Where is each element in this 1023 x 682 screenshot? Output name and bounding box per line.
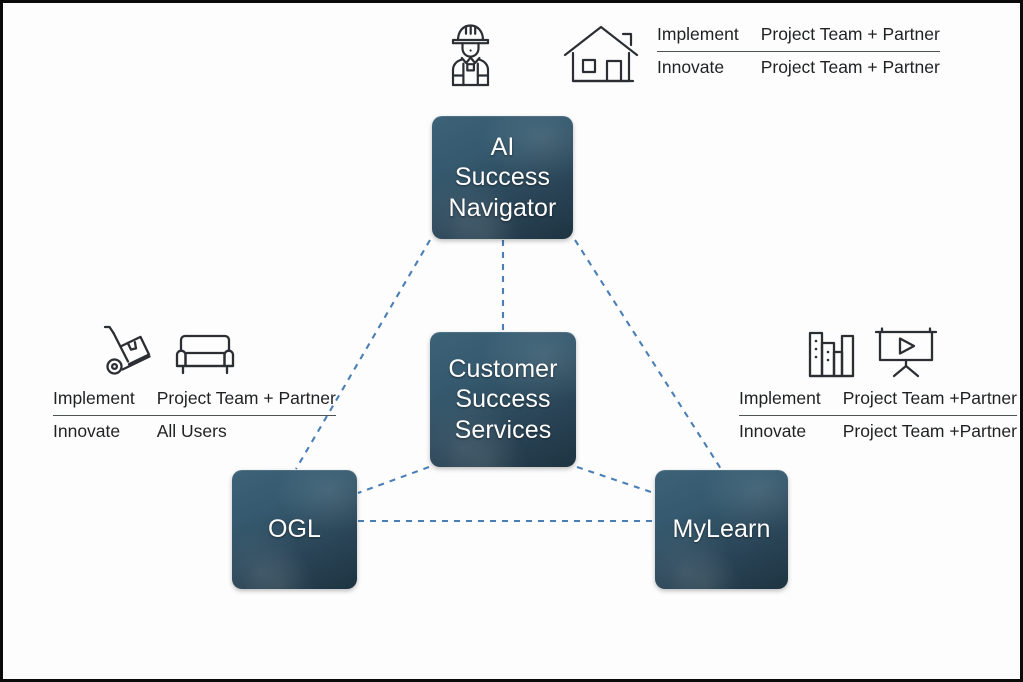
- row-key: Implement: [739, 383, 843, 416]
- bar-chart-buildings-icon: [807, 327, 859, 379]
- info-right-table: Implement Project Team +Partner Innovate…: [739, 383, 1017, 448]
- node-ai-success-navigator[interactable]: AI Success Navigator: [432, 116, 573, 239]
- info-top-icons: [441, 19, 643, 91]
- table-row: Innovate Project Team +Partner: [739, 416, 1017, 449]
- construction-worker-icon: [441, 19, 549, 91]
- table-row: Implement Project Team + Partner: [657, 19, 940, 52]
- row-value: Project Team +Partner: [843, 383, 1017, 416]
- node-ogl[interactable]: OGL: [232, 470, 357, 589]
- node-label: Customer Success Services: [440, 354, 565, 446]
- sofa-icon: [173, 331, 237, 379]
- presentation-play-icon: [873, 323, 939, 379]
- house-icon: [563, 25, 643, 85]
- node-mylearn[interactable]: MyLearn: [655, 470, 788, 589]
- row-key: Innovate: [739, 416, 843, 449]
- diagram-stage: AI Success Navigator Customer Success Se…: [3, 3, 1020, 679]
- node-label: MyLearn: [665, 514, 779, 545]
- row-value: Project Team + Partner: [761, 52, 940, 85]
- row-value: Project Team +Partner: [843, 416, 1017, 449]
- info-left-icons: [53, 321, 336, 379]
- row-value: Project Team + Partner: [761, 19, 940, 52]
- connector-center-ogl: [358, 467, 429, 493]
- info-left-table: Implement Project Team + Partner Innovat…: [53, 383, 336, 448]
- hand-truck-icon: [101, 323, 159, 379]
- table-row: Innovate Project Team + Partner: [657, 52, 940, 85]
- row-value: All Users: [157, 416, 336, 449]
- node-label: OGL: [260, 514, 329, 545]
- diagram-canvas: AI Success Navigator Customer Success Se…: [0, 0, 1023, 682]
- connector-center-mylearn: [577, 467, 654, 493]
- row-key: Innovate: [53, 416, 157, 449]
- table-row: Implement Project Team + Partner: [53, 383, 336, 416]
- info-right-icons: [739, 321, 1017, 379]
- info-group-left: Implement Project Team + Partner Innovat…: [53, 321, 336, 448]
- node-label: AI Success Navigator: [432, 132, 573, 224]
- row-value: Project Team + Partner: [157, 383, 336, 416]
- row-key: Implement: [657, 19, 761, 52]
- connector-navigator-mylearn: [575, 240, 721, 469]
- table-row: Implement Project Team +Partner: [739, 383, 1017, 416]
- info-top-table: Implement Project Team + Partner Innovat…: [657, 19, 940, 84]
- table-row: Innovate All Users: [53, 416, 336, 449]
- node-customer-success-services[interactable]: Customer Success Services: [430, 332, 576, 467]
- info-group-top: Implement Project Team + Partner Innovat…: [441, 19, 940, 91]
- row-key: Implement: [53, 383, 157, 416]
- info-group-right: Implement Project Team +Partner Innovate…: [739, 321, 1017, 448]
- row-key: Innovate: [657, 52, 761, 85]
